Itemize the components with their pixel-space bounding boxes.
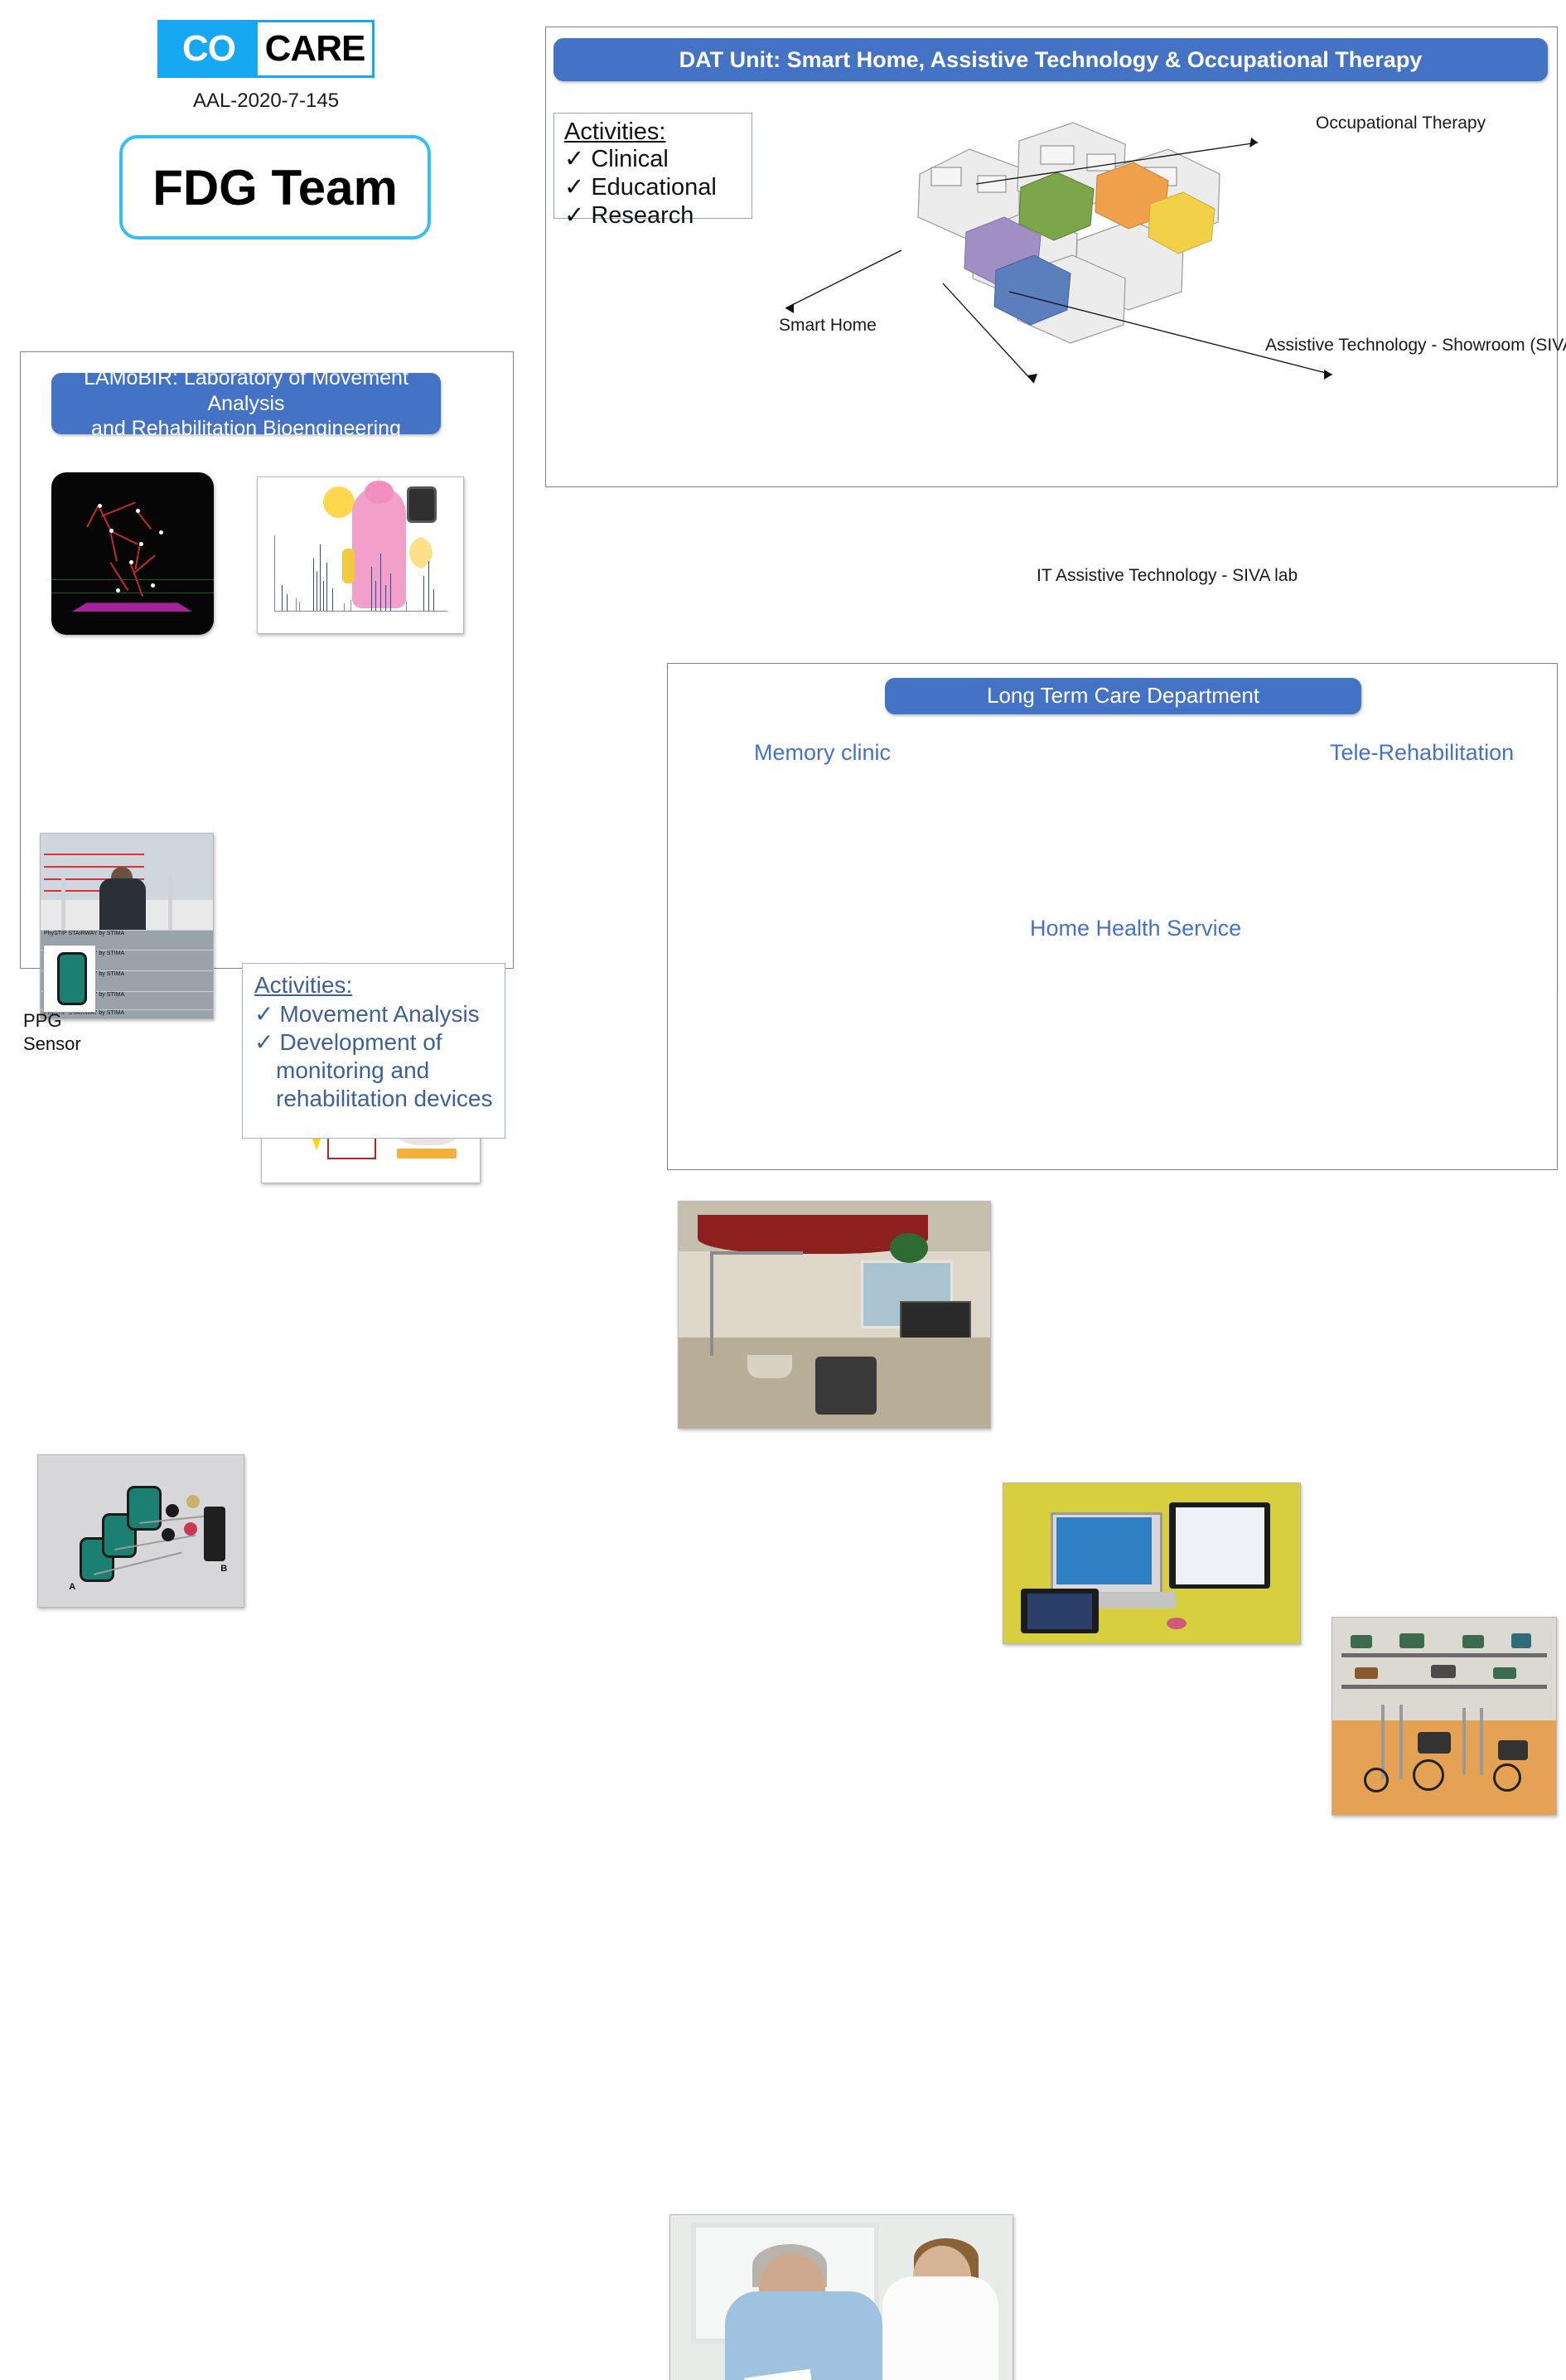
siva-showroom-image xyxy=(1332,1617,1557,1816)
activity-signal-plot-image xyxy=(257,476,464,634)
smart-home-label: Smart Home xyxy=(779,316,877,336)
occupational-therapy-label: Occupational Therapy xyxy=(1316,114,1486,133)
motion-capture-image xyxy=(51,472,214,635)
fdg-team-title: FDG Team xyxy=(152,159,398,216)
tele-rehabilitation-label: Tele-Rehabilitation xyxy=(1330,740,1514,766)
ppg-marker-b: B xyxy=(220,1564,227,1574)
project-code: AAL-2020-7-145 xyxy=(157,89,375,113)
ppg-sensor-closeup xyxy=(43,945,96,1013)
ppg-label-line1: PPG xyxy=(23,1009,103,1033)
lamobir-activities-box: Activities: ✓Movement Analysis ✓Developm… xyxy=(242,963,505,1139)
memory-clinic-image xyxy=(669,2214,1013,2380)
lamobir-activity-item: ✓Development of monitoring and rehabilit… xyxy=(254,1028,495,1113)
floorplan-svg xyxy=(895,116,1226,348)
check-icon: ✓ xyxy=(254,1001,273,1027)
dat-activities-title: Activities: xyxy=(564,119,743,146)
dat-activity-text: Educational xyxy=(591,174,717,201)
lamobir-activities-title: Activities: xyxy=(254,972,495,999)
dat-activity-text: Research xyxy=(591,202,694,229)
lamobir-header-line1: LAMoBIR: Laboratory of Movement Analysis xyxy=(51,365,441,416)
ppg-sensor-label: PPG Sensor xyxy=(23,1009,103,1055)
logo-co-text: CO xyxy=(160,22,258,75)
check-icon: ✓ xyxy=(564,202,584,229)
dat-activity-item: ✓Clinical xyxy=(564,146,743,174)
ppg-label-line2: Sensor xyxy=(23,1033,103,1056)
smart-home-image xyxy=(678,1201,991,1429)
memory-clinic-label: Memory clinic xyxy=(754,740,891,766)
dat-activity-item: ✓Educational xyxy=(564,174,743,202)
check-icon: ✓ xyxy=(254,1029,273,1055)
lamobir-activity-item: ✓Movement Analysis xyxy=(254,1000,495,1028)
dat-activities-list: ✓Clinical ✓Educational ✓Research xyxy=(564,146,743,230)
assistive-showroom-label: Assistive Technology - Showroom (SIVA) xyxy=(1265,336,1566,356)
ppg-marker-a: A xyxy=(69,1582,75,1592)
ppg-sensor-image: A B xyxy=(37,1454,244,1608)
lamobir-activity-text: Movement Analysis xyxy=(279,1001,479,1027)
long-term-care-header: Long Term Care Department xyxy=(885,678,1361,714)
lamobir-activities-list: ✓Movement Analysis ✓Development of monit… xyxy=(254,1000,495,1113)
fdg-team-box: FDG Team xyxy=(119,135,431,239)
it-assistive-technology-image xyxy=(1003,1483,1301,1644)
lamobir-header-line2: and Rehabilitation Bioengineering xyxy=(51,416,441,442)
facility-floorplan-diagram xyxy=(895,116,1226,348)
logo-care-text: CARE xyxy=(258,22,372,75)
lamobir-header: LAMoBIR: Laboratory of Movement Analysis… xyxy=(51,373,441,434)
it-assistive-label: IT Assistive Technology - SIVA lab xyxy=(1037,566,1298,586)
dat-activities-box: Activities: ✓Clinical ✓Educational ✓Rese… xyxy=(553,113,752,219)
lamobir-activity-text: Development of monitoring and rehabilita… xyxy=(276,1029,493,1111)
dat-activity-item: ✓Research xyxy=(564,202,743,230)
home-health-service-label: Home Health Service xyxy=(1030,916,1241,941)
dat-activity-text: Clinical xyxy=(591,146,668,172)
check-icon: ✓ xyxy=(564,174,584,201)
check-icon: ✓ xyxy=(564,146,584,172)
cocare-logo: CO CARE xyxy=(157,20,375,78)
dat-unit-header: DAT Unit: Smart Home, Assistive Technolo… xyxy=(553,38,1548,81)
